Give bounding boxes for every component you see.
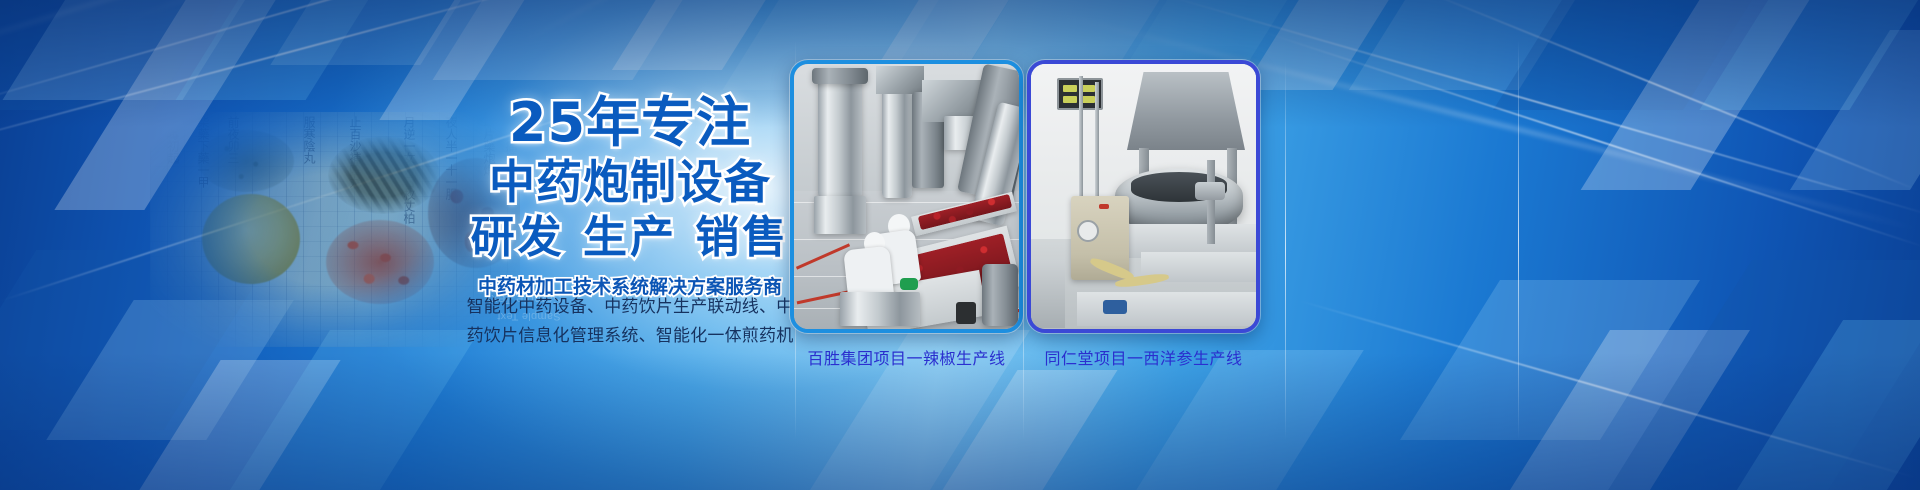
chili-production-line-photo — [794, 64, 1019, 329]
description-text: 智能化中药设备、中药饮片生产联动线、中 药饮片信息化管理系统、智能化一体煎药机 — [455, 293, 805, 351]
pipe — [1207, 160, 1215, 244]
description-line-2: 药饮片信息化管理系统、智能化一体煎药机 — [455, 322, 805, 351]
headline-line-2: 中药炮制设备 — [470, 159, 790, 205]
promotional-banner: 驱毒初起 柴藥下藥一甲 前夜卯三 服寒陰丸 止百沙補陰丸 月逆一女方日枚丈柏 夜… — [0, 0, 1920, 490]
vertical-divider — [1023, 60, 1024, 440]
side-machine — [982, 264, 1018, 326]
photo-frame[interactable] — [1027, 60, 1260, 333]
photo-caption-chili: 百胜集团项目一辣椒生产线 — [790, 345, 1023, 369]
headline-group: 25年专注 中药炮制设备 研发 生产 销售 中药材加工技术系统解决方案服务商 — [470, 96, 790, 299]
headline-line-1: 25年专注 — [470, 96, 790, 150]
vertical-tank — [818, 76, 862, 198]
vertical-column — [882, 82, 912, 198]
vertical-divider — [1518, 40, 1519, 440]
extraction-hood — [1127, 72, 1245, 150]
hopper — [876, 66, 924, 94]
indicator-light — [1099, 204, 1109, 209]
photo-caption-ginseng: 同仁堂项目一西洋参生产线 — [1027, 345, 1260, 369]
project-photo-card-chili[interactable]: 百胜集团项目一辣椒生产线 — [790, 60, 1023, 369]
blue-container — [1103, 300, 1127, 314]
tank-base — [814, 196, 866, 234]
floor-equipment — [1031, 260, 1065, 328]
work-table — [840, 292, 920, 326]
description-line-1: 智能化中药设备、中药饮片生产联动线、中 — [455, 293, 805, 322]
project-photo-card-ginseng[interactable]: 同仁堂项目一西洋参生产线 — [1027, 60, 1260, 369]
bin — [956, 302, 976, 324]
pressure-gauge — [1077, 220, 1099, 242]
vertical-divider — [1285, 60, 1286, 440]
valve — [1195, 182, 1225, 200]
tank-top — [812, 68, 868, 84]
photo-frame[interactable] — [790, 60, 1023, 333]
headline-line-3: 研发 生产 销售 — [470, 216, 790, 260]
ginseng-production-line-photo — [1031, 64, 1256, 329]
